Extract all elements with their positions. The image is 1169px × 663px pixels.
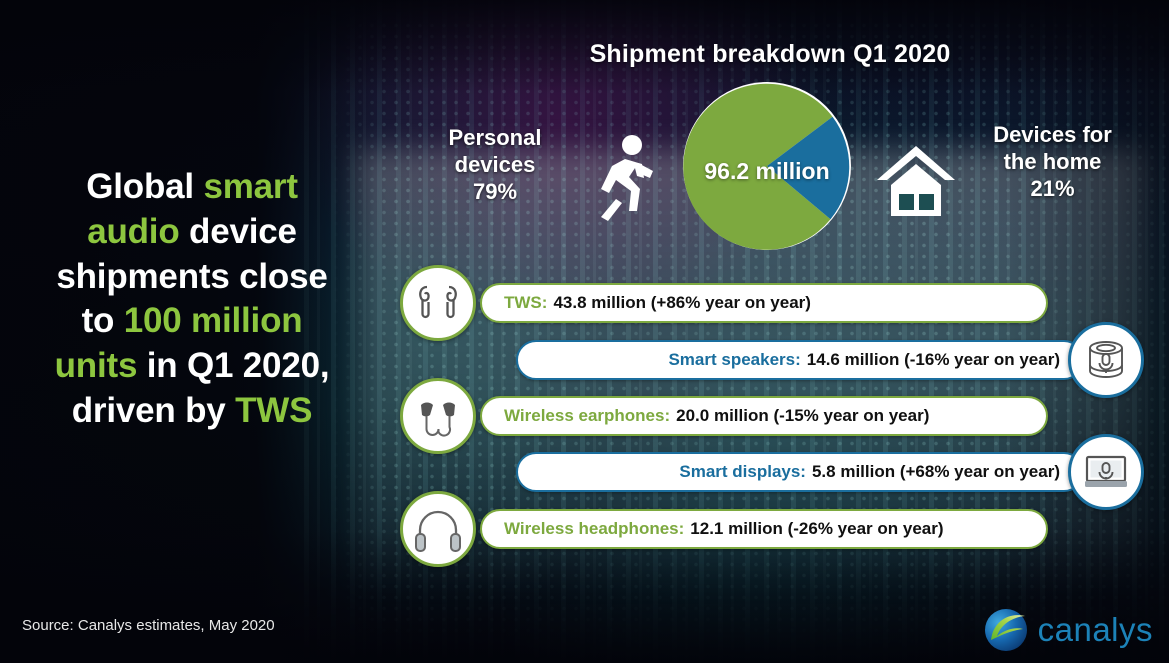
- bar-row-smart-speakers[interactable]: Smart speakers: 14.6 million (-16% year …: [516, 340, 1084, 380]
- tws-earbuds-icon: [413, 278, 463, 328]
- shipment-bar-list: TWS: 43.8 million (+86% year on year) Sm…: [0, 0, 1169, 663]
- bar-value-wireless-headphones: 12.1 million (-26% year on year): [690, 519, 943, 539]
- bar-category-wireless-headphones: Wireless headphones:: [504, 519, 684, 539]
- bar-value-smart-speakers: 14.6 million (-16% year on year): [807, 350, 1060, 370]
- bar-value-smart-displays: 5.8 million (+68% year on year): [812, 462, 1060, 482]
- canalys-logo[interactable]: canalys: [983, 607, 1153, 653]
- bar-category-smart-displays: Smart displays:: [679, 462, 806, 482]
- bar-category-tws: TWS:: [504, 293, 547, 313]
- bubble-smart-displays[interactable]: [1068, 434, 1144, 510]
- wireless-headphones-icon: [412, 503, 464, 555]
- bar-row-tws[interactable]: TWS: 43.8 million (+86% year on year): [480, 283, 1048, 323]
- bubble-smart-speakers[interactable]: [1068, 322, 1144, 398]
- wireless-earphones-icon: [413, 391, 463, 441]
- bubble-wireless-headphones[interactable]: [400, 491, 476, 567]
- canalys-logo-mark-icon: [983, 607, 1029, 653]
- bar-category-smart-speakers: Smart speakers:: [668, 350, 800, 370]
- canalys-logo-text: canalys: [1038, 611, 1153, 649]
- bubble-wireless-earphones[interactable]: [400, 378, 476, 454]
- bar-value-wireless-earphones: 20.0 million (-15% year on year): [676, 406, 929, 426]
- bar-row-wireless-headphones[interactable]: Wireless headphones: 12.1 million (-26% …: [480, 509, 1048, 549]
- bar-row-smart-displays[interactable]: Smart displays: 5.8 million (+68% year o…: [516, 452, 1084, 492]
- bar-value-tws: 43.8 million (+86% year on year): [553, 293, 810, 313]
- bubble-tws[interactable]: [400, 265, 476, 341]
- source-note: Source: Canalys estimates, May 2020: [22, 617, 275, 634]
- bar-row-wireless-earphones[interactable]: Wireless earphones: 20.0 million (-15% y…: [480, 396, 1048, 436]
- smart-display-icon: [1080, 446, 1132, 498]
- smart-speaker-icon: [1081, 335, 1131, 385]
- bar-category-wireless-earphones: Wireless earphones:: [504, 406, 670, 426]
- infographic-canvas: Global smart audio device shipments clos…: [0, 0, 1169, 663]
